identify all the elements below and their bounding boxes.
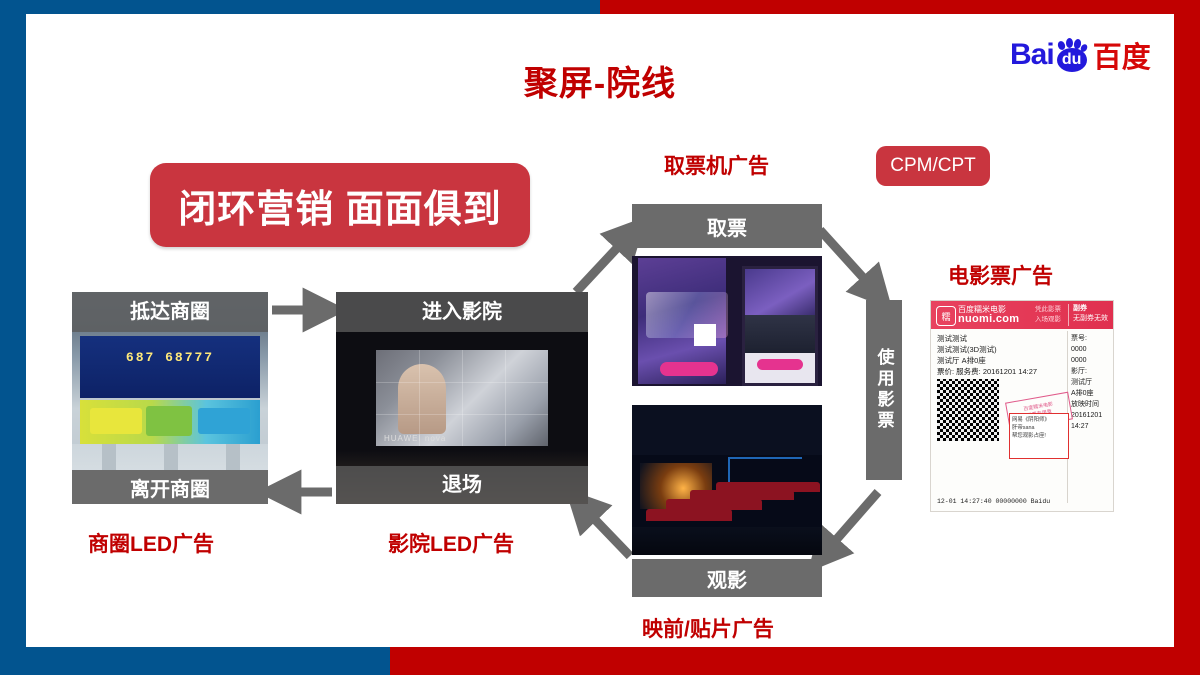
slide-root: Bai du 百度 聚屏-院线 闭环营销 面面俱到 CPM/CPT [0, 0, 1200, 675]
ticket-right-line: 0000 [1071, 355, 1113, 366]
mall-billboard: 687 68777 [80, 336, 260, 398]
ticket-line: 测试厅 A排0座 [937, 355, 1063, 366]
caption-mall-led: 商圈LED广告 [88, 528, 214, 558]
ticket-header: 糯 百度糯米电影 nuomi.com 凭此影票 入场观影 副券 无副券无效 [931, 301, 1113, 329]
caption-ticket-ad: 电影票广告 [948, 260, 1053, 290]
photo-cinema-hall [632, 405, 822, 555]
stub-sub: 无副券无效 [1073, 315, 1108, 322]
label-enter-cinema: 进入影院 [336, 292, 588, 332]
ticket-note: 凭此影票 入场观影 [1035, 305, 1061, 325]
border-bottom-left-blue [0, 647, 390, 675]
ticket-brand-en: nuomi.com [958, 313, 1019, 325]
ticket-line: 测试测试(3D测试) [937, 344, 1063, 355]
ticket-ad-box: 网易《阴阳师》 肝帝sana 帮您观影占座! [1009, 413, 1069, 459]
ticket-right-line: A排0座 [1071, 388, 1113, 399]
ticket-stub-label: 副券 无副券无效 [1073, 304, 1108, 324]
label-watch-movie: 观影 [632, 559, 822, 597]
ticket-line: 票价: 服务费: 20161201 14:27 [937, 366, 1063, 377]
ticket-right-line: 票号: [1071, 333, 1113, 344]
ticket-right-line: 14:27 [1071, 421, 1113, 432]
ticket-qr-code [937, 379, 999, 441]
caption-cinema-led: 影院LED广告 [388, 528, 514, 558]
kiosk-screen-left [638, 258, 726, 384]
ticket-right-line: 放映时间 [1071, 399, 1113, 410]
led-wall-brand: HUAWEI nova [384, 434, 446, 443]
ticket-footer: 12-01 14:27:40 00000000 Baidu [937, 498, 1050, 505]
billboard-number: 687 68777 [80, 350, 260, 365]
label-exit-cinema: 退场 [336, 466, 588, 504]
cinema-led-wall [376, 350, 548, 446]
led-wall-person [398, 364, 446, 434]
label-pickup-ticket: 取票 [632, 204, 822, 248]
page-title: 聚屏-院线 [0, 56, 1200, 105]
slogan-pill: 闭环营销 面面俱到 [150, 163, 530, 247]
ticket-right-line: 0000 [1071, 344, 1113, 355]
label-arrive-mall: 抵达商圈 [72, 292, 268, 332]
mall-led-screen [80, 400, 260, 444]
ticket-right-column: 票号: 0000 0000 影厅: 测试厅 A排0座 放映时间 20161201… [1071, 333, 1113, 432]
ticket-right-line: 测试厅 [1071, 377, 1113, 388]
ticket-right-line: 20161201 [1071, 410, 1113, 421]
border-bottom-right-red [390, 647, 1200, 675]
kiosk-screen-right [742, 266, 818, 386]
ticket-ad-text: 网易《阴阳师》 肝帝sana 帮您观影占座! [1012, 416, 1066, 440]
caption-kiosk-ad: 取票机广告 [664, 150, 769, 180]
border-top-right-red [600, 0, 1200, 14]
photo-movie-ticket: 糯 百度糯米电影 nuomi.com 凭此影票 入场观影 副券 无副券无效 测试… [930, 300, 1114, 512]
pricing-badge: CPM/CPT [876, 146, 990, 186]
caption-preroll-ad: 映前/贴片广告 [642, 613, 774, 643]
label-use-ticket: 使用影票 [866, 300, 902, 480]
border-top-left-blue [0, 0, 600, 14]
nuomi-icon: 糯 [936, 306, 956, 326]
stub-title: 副券 [1073, 305, 1087, 312]
ticket-right-line: 影厅: [1071, 366, 1113, 377]
label-leave-mall: 离开商圈 [72, 470, 268, 504]
photo-ticket-kiosk [632, 256, 822, 386]
ticket-details: 测试测试 测试测试(3D测试) 测试厅 A排0座 票价: 服务费: 201612… [937, 333, 1063, 377]
photo-cinema-lobby: HUAWEI nova 进入影院 退场 [336, 292, 588, 504]
ticket-line: 测试测试 [937, 333, 1063, 344]
